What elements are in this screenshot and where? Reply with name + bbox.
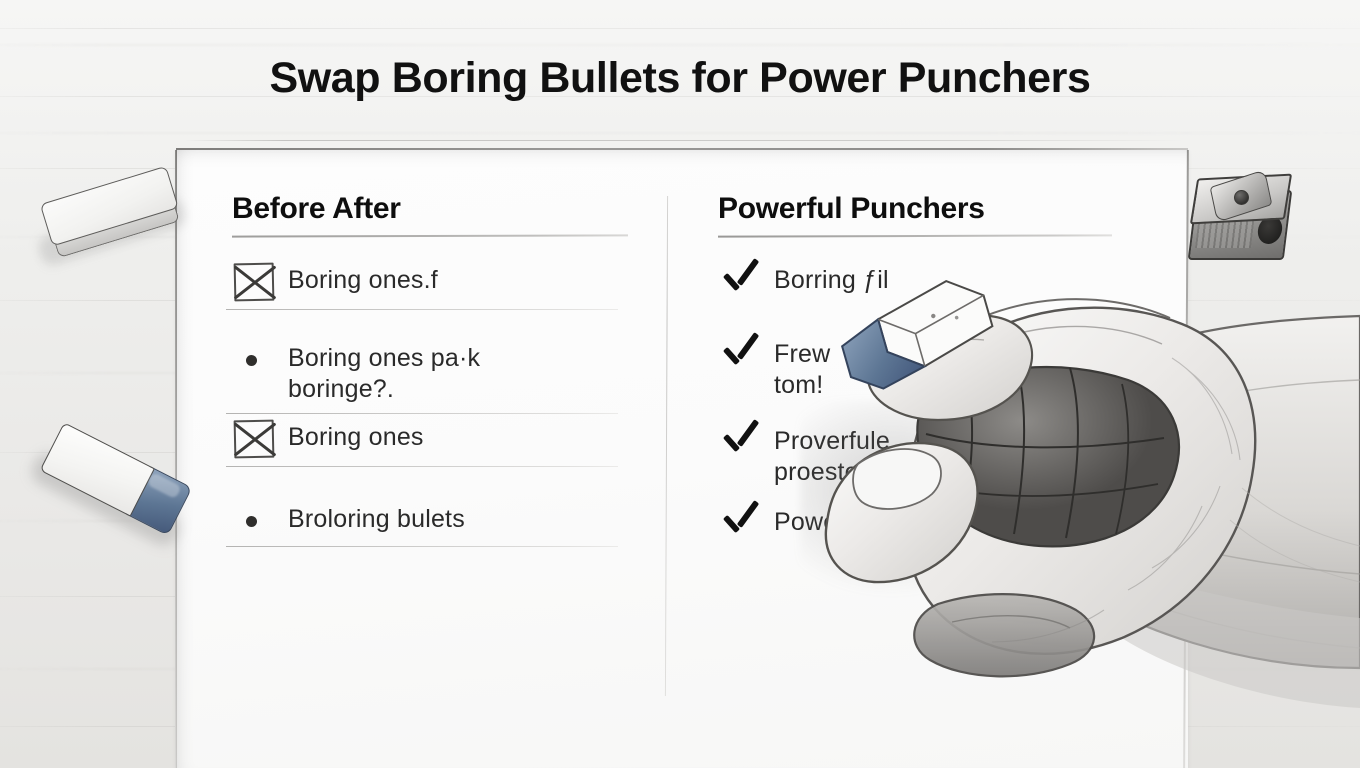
ruled-line [226,546,618,547]
list-item-text: Borring ƒil [774,263,889,296]
check-icon [718,263,774,303]
check-icon [718,424,774,464]
list-item[interactable]: Boring ones pa·k boringe?. [232,341,632,404]
list-item-line1: Boring ones.f [288,266,438,294]
list-item-text: Broloring bulets [288,502,465,535]
heading-underline-left [232,234,628,237]
x-box-icon [232,263,288,303]
list-item-line1: Boring ones pa·k [288,344,480,372]
list-item-text: Frew tom! [774,337,830,400]
column-heading-left: Before After [232,192,632,226]
column-before-after: Before After Boring ones.f Boring ones p… [232,192,632,568]
ruled-line [226,466,618,467]
paper-edge-outer [184,140,1184,141]
pencil-smudge [800,400,1030,600]
check-icon [718,337,774,377]
list-item-line2: tom! [774,370,830,401]
page-title: Swap Boring Bullets for Power Punchers [0,54,1360,103]
heading-underline-right [718,234,1112,237]
x-box-icon [232,420,288,460]
ruled-line [226,309,618,310]
list-item[interactable]: Broloring bulets [232,502,632,546]
list-item-text: Boring ones.f [288,263,438,296]
list-item-line1: Boring ones [288,423,424,451]
column-heading-right: Powerful Punchers [718,192,1118,226]
list-item-text: Boring ones [288,420,424,453]
list-item-line1: Broloring bulets [288,505,465,533]
bullet-dot-icon [232,341,288,381]
list-item[interactable]: Boring ones [232,420,632,464]
pencil-sharpener-icon [1186,164,1294,268]
list-item[interactable]: Borring ƒil [718,263,1118,307]
list-item[interactable]: Boring ones.f [232,263,632,307]
list-item-line1: Borring ƒil [774,266,889,294]
list-left: Boring ones.f Boring ones pa·k boringe?. [232,263,632,546]
list-item-line2: boringe?. [288,374,480,405]
list-item-text: Boring ones pa·k boringe?. [288,341,480,404]
check-icon [718,505,774,545]
ruled-line [226,413,618,414]
list-item-line1: Frew [774,340,830,368]
illustration-canvas: Swap Boring Bullets for Power Punchers B… [0,0,1360,768]
bullet-dot-icon [232,502,288,542]
list-item[interactable]: Frew tom! [718,337,1118,400]
